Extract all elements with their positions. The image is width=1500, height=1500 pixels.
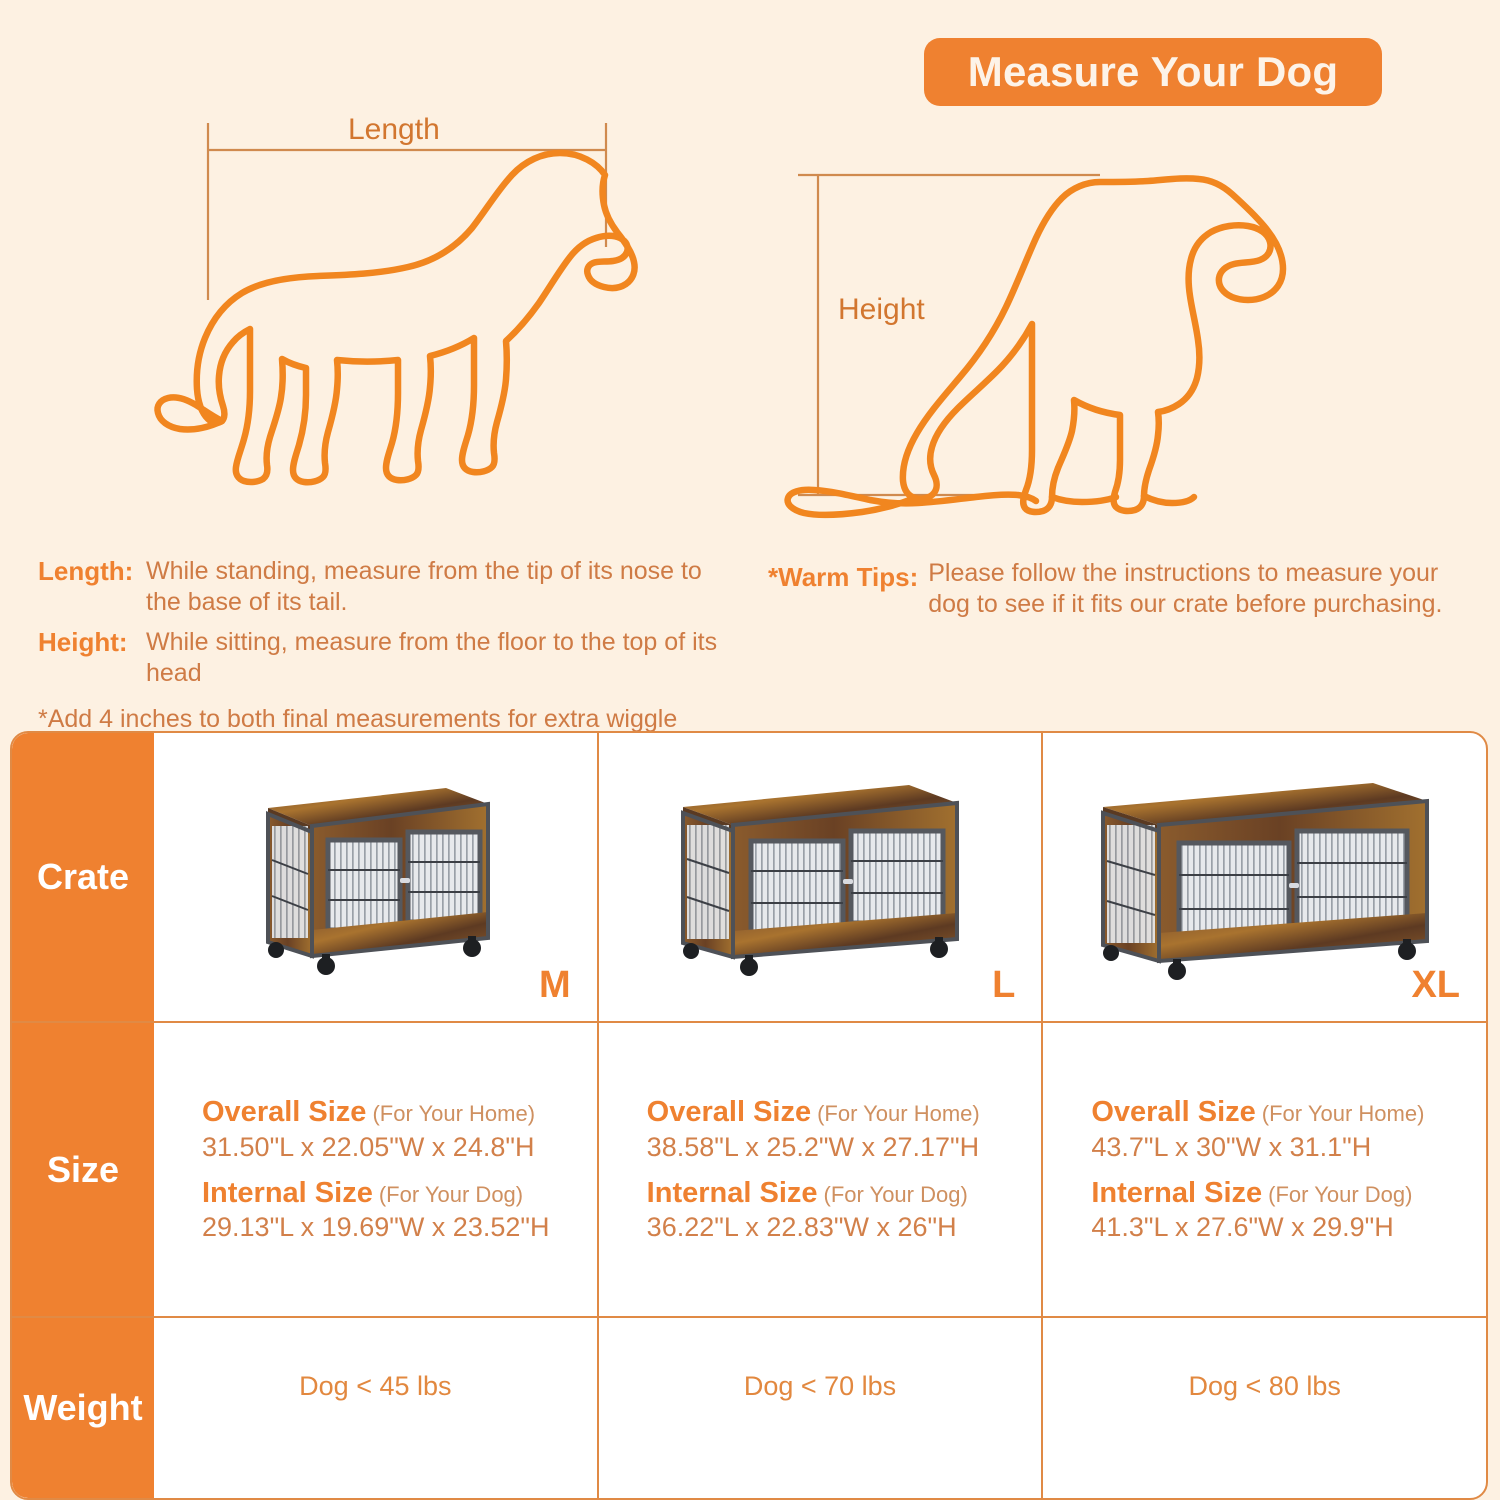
row-header-size: Size xyxy=(12,1023,154,1316)
length-dimension-line xyxy=(208,123,606,300)
row-header-crate: Crate xyxy=(12,733,154,1021)
overall-size-value: 31.50"L x 22.05"W x 24.8"H xyxy=(202,1132,583,1163)
crate-cell-xl: XL xyxy=(1041,733,1486,1021)
instruction-height: Height: While sitting, measure from the … xyxy=(38,627,738,688)
crate-cell-l: L xyxy=(597,733,1042,1021)
internal-size-title: Internal Size xyxy=(647,1177,818,1209)
overall-size-value: 38.58"L x 25.2"W x 27.17"H xyxy=(647,1132,1028,1163)
instruction-length-key: Length: xyxy=(38,556,146,588)
overall-size-value: 43.7"L x 30"W x 31.1"H xyxy=(1091,1132,1472,1163)
warm-tips-key: *Warm Tips: xyxy=(768,558,918,593)
weight-cell-l: Dog < 70 lbs xyxy=(597,1318,1042,1498)
internal-size-value: 29.13"L x 19.69"W x 23.52"H xyxy=(202,1212,583,1243)
height-dimension-line xyxy=(798,175,1100,495)
internal-size-heading: Internal Size(For Your Dog) xyxy=(1091,1177,1472,1211)
instruction-length-text: While standing, measure from the tip of … xyxy=(146,556,738,617)
internal-size-heading: Internal Size(For Your Dog) xyxy=(647,1177,1028,1211)
crate-cell-m: M xyxy=(154,733,597,1021)
internal-size-heading: Internal Size(For Your Dog) xyxy=(202,1177,583,1211)
weight-cell-xl: Dog < 80 lbs xyxy=(1041,1318,1486,1498)
standing-dog-silhouette-icon xyxy=(150,95,670,535)
internal-size-paren: (For Your Dog) xyxy=(1268,1182,1412,1207)
overall-size-title: Overall Size xyxy=(202,1096,366,1128)
row-header-weight: Weight xyxy=(12,1318,154,1498)
length-diagram: Length xyxy=(150,95,670,535)
internal-size-value: 36.22"L x 22.83"W x 26"H xyxy=(647,1212,1028,1243)
dog-crate-furniture-icon xyxy=(665,767,975,987)
internal-size-title: Internal Size xyxy=(1091,1177,1262,1209)
overall-size-paren: (For Your Home) xyxy=(372,1101,535,1126)
table-row-crate: Crate xyxy=(12,733,1486,1023)
height-label: Height xyxy=(828,293,935,327)
weight-value: Dog < 70 lbs xyxy=(744,1371,896,1402)
sitting-dog-silhouette-icon xyxy=(770,150,1310,545)
overall-size-paren: (For Your Home) xyxy=(817,1101,980,1126)
overall-size-heading: Overall Size(For Your Home) xyxy=(1091,1096,1472,1130)
overall-size-title: Overall Size xyxy=(647,1096,811,1128)
length-label: Length xyxy=(338,113,450,147)
overall-size-title: Overall Size xyxy=(1091,1096,1255,1128)
size-badge-xl: XL xyxy=(1411,964,1460,1007)
weight-cell-m: Dog < 45 lbs xyxy=(154,1318,597,1498)
internal-size-value: 41.3"L x 27.6"W x 29.9"H xyxy=(1091,1212,1472,1243)
overall-size-heading: Overall Size(For Your Home) xyxy=(647,1096,1028,1130)
size-cell-m: Overall Size(For Your Home) 31.50"L x 22… xyxy=(154,1023,597,1316)
size-badge-m: M xyxy=(539,964,571,1007)
measurement-diagrams: Length Height xyxy=(0,0,1500,545)
warm-tips: *Warm Tips: Please follow the instructio… xyxy=(768,558,1483,619)
internal-size-paren: (For Your Dog) xyxy=(824,1182,968,1207)
dog-crate-furniture-icon xyxy=(250,770,500,985)
warm-tips-text: Please follow the instructions to measur… xyxy=(928,558,1483,619)
size-cell-l: Overall Size(For Your Home) 38.58"L x 25… xyxy=(597,1023,1042,1316)
overall-size-heading: Overall Size(For Your Home) xyxy=(202,1096,583,1130)
size-cell-xl: Overall Size(For Your Home) 43.7"L x 30"… xyxy=(1041,1023,1486,1316)
table-row-weight: Weight Dog < 45 lbs Dog < 70 lbs Dog < 8… xyxy=(12,1318,1486,1498)
weight-value: Dog < 80 lbs xyxy=(1189,1371,1341,1402)
internal-size-paren: (For Your Dog) xyxy=(379,1182,523,1207)
overall-size-paren: (For Your Home) xyxy=(1262,1101,1425,1126)
internal-size-title: Internal Size xyxy=(202,1177,373,1209)
height-diagram: Height xyxy=(770,150,1310,545)
size-badge-l: L xyxy=(992,964,1015,1007)
instruction-height-key: Height: xyxy=(38,627,146,659)
weight-value: Dog < 45 lbs xyxy=(299,1371,451,1402)
size-comparison-table: Crate xyxy=(10,731,1488,1500)
instruction-length: Length: While standing, measure from the… xyxy=(38,556,738,617)
dog-crate-furniture-icon xyxy=(1085,765,1445,990)
instruction-height-text: While sitting, measure from the floor to… xyxy=(146,627,738,688)
table-row-size: Size Overall Size(For Your Home) 31.50"L… xyxy=(12,1023,1486,1318)
